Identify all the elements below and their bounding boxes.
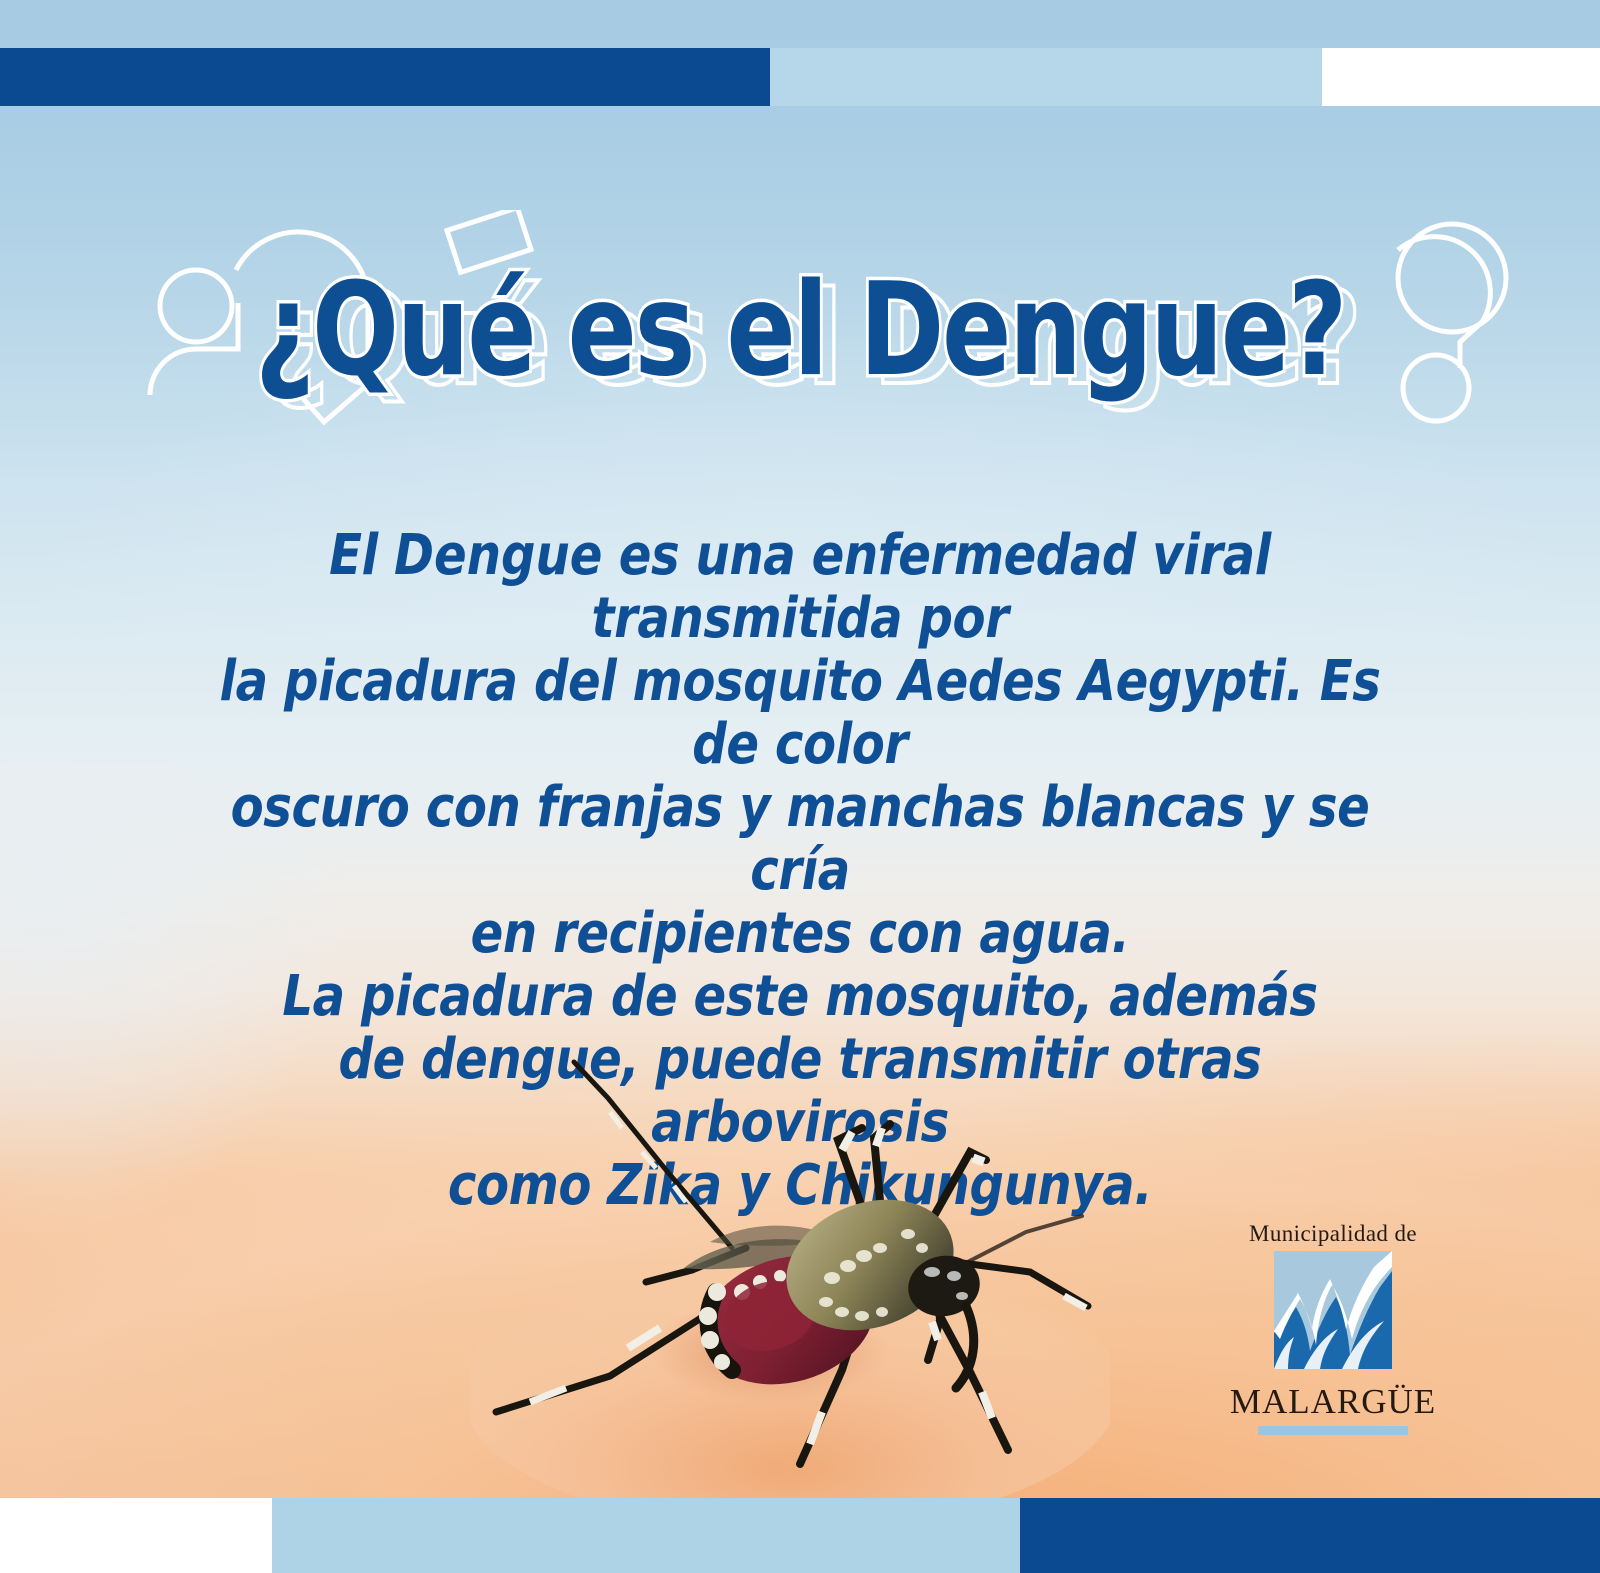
body-line-3: oscuro con franjas y manchas blancas y s… — [189, 776, 1410, 902]
logo-superline: Municipalidad de — [1198, 1222, 1468, 1245]
dengue-awareness-poster: ¿Qué es el Dengue? ¿Qué es el Dengue? El… — [0, 0, 1600, 1573]
mountain-peaks-icon — [1274, 1251, 1392, 1369]
top-bar-pale-segment — [770, 48, 1322, 106]
body-line-2: la picadura del mosquito Aedes Aegypti. … — [189, 650, 1410, 776]
body-text: la picadura del mosquito Aedes Aegypti. … — [220, 649, 1381, 777]
body-line-4: en recipientes con agua. — [189, 902, 1410, 965]
body-line-1: El Dengue es una enfermedad viral transm… — [189, 524, 1410, 650]
body-text: es una enfermedad viral transmitida por — [591, 523, 1270, 651]
municipality-logo: Municipalidad de Malargüe — [1198, 1222, 1468, 1462]
bottom-bar-light-segment — [272, 1498, 1020, 1573]
mountain-peaks-mark — [1274, 1251, 1392, 1369]
logo-name: Malargüe — [1198, 1371, 1468, 1421]
body-text: El — [329, 523, 394, 588]
mosquito-photo — [470, 1020, 1110, 1500]
logo-underline — [1258, 1426, 1408, 1435]
page-title: ¿Qué es el Dengue? — [160, 236, 1440, 426]
bottom-bar-white-segment — [0, 1498, 272, 1573]
body-emphasis: Dengue — [394, 523, 602, 588]
headline-block: ¿Qué es el Dengue? ¿Qué es el Dengue? — [0, 236, 1600, 426]
bottom-bar-blue-segment — [1020, 1498, 1600, 1573]
body-line-5: La picadura de este mosquito, además — [189, 965, 1410, 1028]
top-bar-blue-segment — [0, 48, 770, 106]
body-text: oscuro con franjas y manchas blancas y s… — [231, 775, 1370, 903]
bottom-decorative-bar — [0, 1498, 1600, 1573]
body-text: en recipientes con agua. — [471, 901, 1130, 966]
top-bar-white-segment — [1322, 48, 1600, 106]
